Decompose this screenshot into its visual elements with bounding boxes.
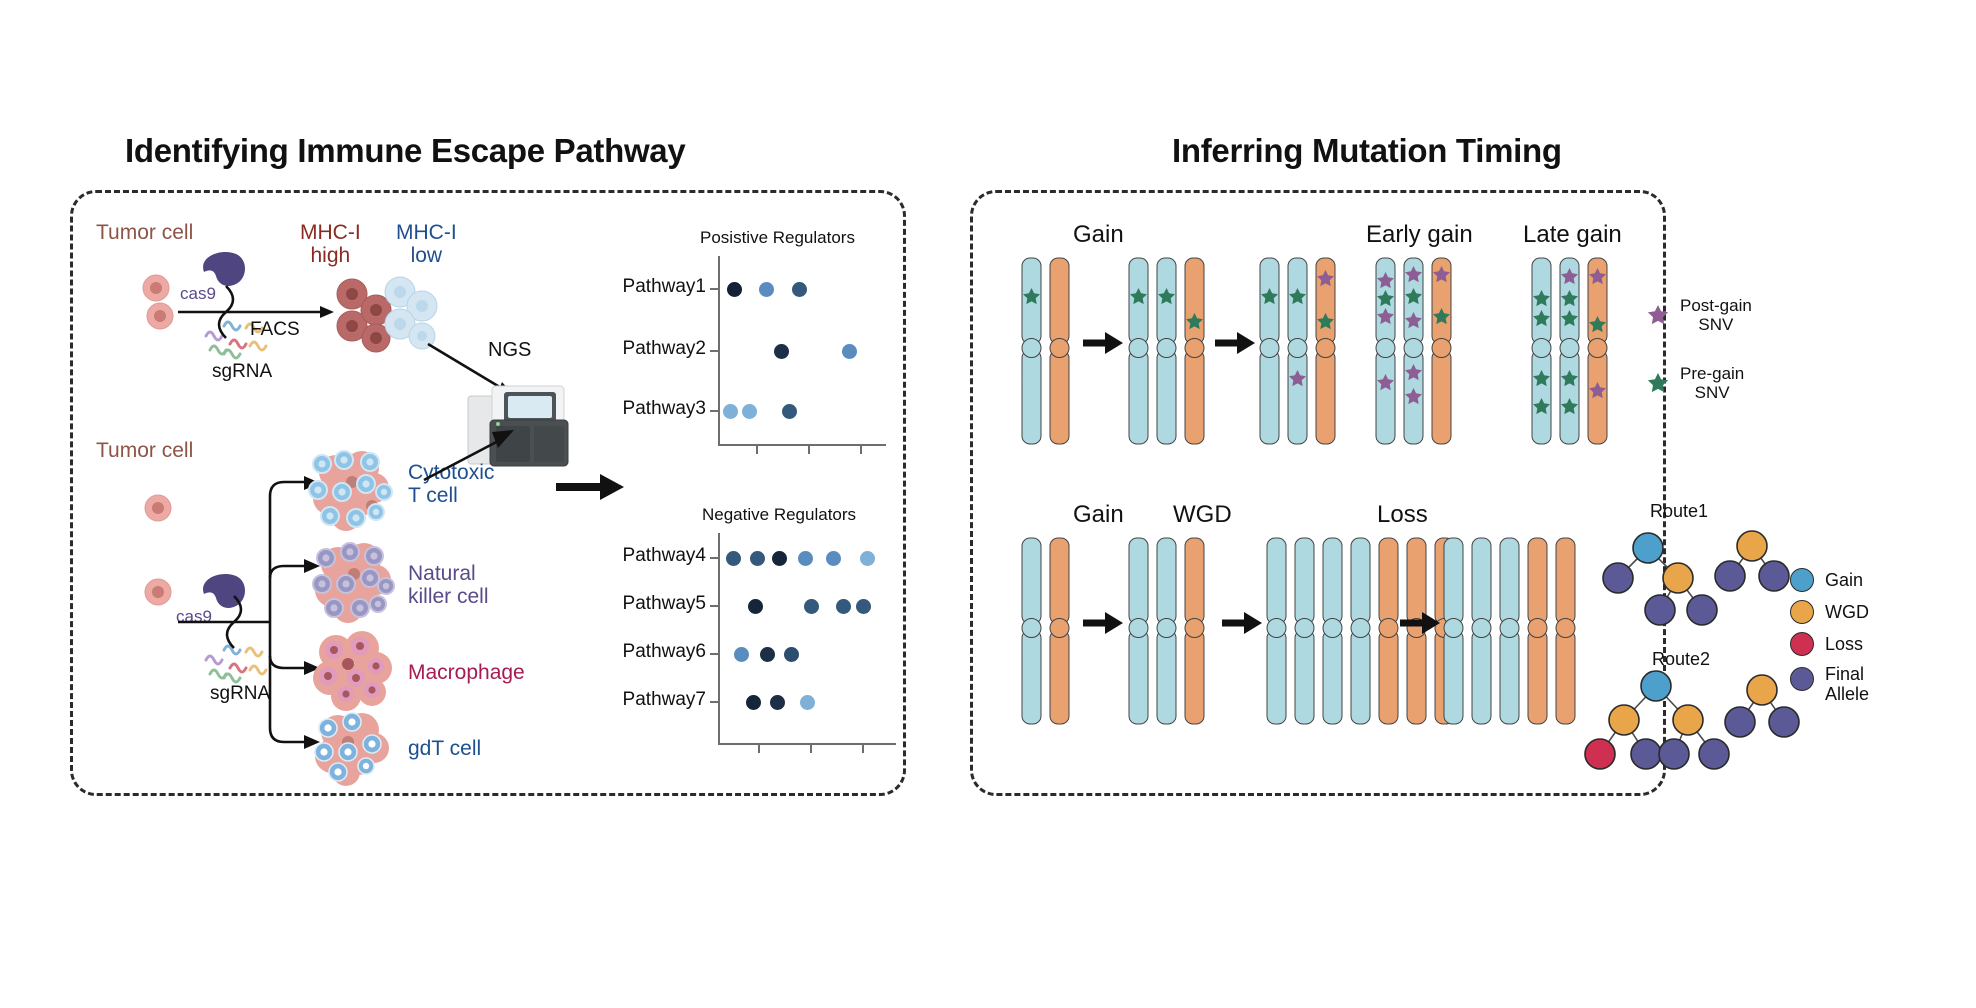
sgrna-label-top: sgRNA — [212, 362, 272, 383]
bottom-chromosome-group-1 — [1020, 538, 1080, 724]
negative-y-tick — [710, 605, 718, 607]
mhc-low-label: MHC-I low — [396, 222, 457, 267]
negative-cat-label: Pathway7 — [610, 689, 706, 711]
cytotoxic-t-cell-icon — [308, 448, 394, 530]
bottom-chromosome-group-2 — [1127, 538, 1217, 724]
final-allele-line1: Final — [1825, 664, 1864, 684]
left-panel-title: Identifying Immune Escape Pathway — [125, 132, 685, 170]
negative-x-axis — [718, 743, 896, 745]
positive-x-tick — [860, 446, 862, 454]
data-point — [856, 599, 871, 614]
data-point — [750, 551, 765, 566]
route2-tree — [1568, 672, 1798, 782]
negative-y-tick — [710, 701, 718, 703]
data-point — [826, 551, 841, 566]
pre-gain-star-icon — [1646, 371, 1670, 395]
data-point — [782, 404, 797, 419]
early-gain-label: Early gain — [1366, 222, 1473, 248]
positive-cat-label: Pathway2 — [610, 338, 706, 360]
data-point — [860, 551, 875, 566]
nk-line1: Natural — [408, 562, 476, 585]
pre-gain-line1: Pre-gain — [1680, 364, 1744, 383]
negative-cat-label: Pathway6 — [610, 641, 706, 663]
data-point — [774, 344, 789, 359]
route1-tree — [1592, 530, 1792, 640]
negative-y-tick — [710, 653, 718, 655]
positive-y-tick — [710, 410, 718, 412]
legend-wgd: WGD — [1790, 600, 1869, 624]
bottom-arrow-1 — [1083, 610, 1123, 636]
legend-final-allele-label: Final Allele — [1825, 664, 1869, 704]
gain-node-icon — [1790, 568, 1814, 592]
legend-wgd-label: WGD — [1825, 602, 1869, 623]
data-point — [800, 695, 815, 710]
mhc-low-line2: low — [411, 244, 443, 267]
macrophage-label: Macrophage — [408, 662, 525, 685]
gain-arrow-1 — [1083, 330, 1123, 356]
negative-cat-label: Pathway5 — [610, 593, 706, 615]
route2-label: Route2 — [1652, 650, 1710, 669]
natural-killer-cell-icon — [310, 540, 396, 622]
gain-label-top: Gain — [1073, 222, 1124, 248]
legend-loss: Loss — [1790, 632, 1863, 656]
negative-cat-label: Pathway4 — [610, 545, 706, 567]
chromosome-group-2 — [1127, 258, 1217, 444]
facs-label: FACS — [250, 320, 300, 341]
legend-final-allele: Final Allele — [1790, 664, 1869, 704]
data-point — [726, 551, 741, 566]
data-point — [836, 599, 851, 614]
pre-gain-snv-label: Pre-gain SNV — [1680, 364, 1744, 402]
legend-pre-gain-snv: Pre-gain SNV — [1646, 364, 1744, 402]
negative-x-tick — [758, 745, 760, 753]
positive-y-tick — [710, 288, 718, 290]
tumor-cell-label-bottom: Tumor cell — [96, 440, 193, 463]
final-allele-node-icon — [1790, 667, 1814, 691]
pre-gain-line2: SNV — [1695, 383, 1730, 402]
data-point — [742, 404, 757, 419]
loss-node-icon — [1790, 632, 1814, 656]
gain-arrow-2 — [1215, 330, 1255, 356]
negative-regulators-title: Negative Regulators — [702, 505, 856, 525]
post-gain-snv-label: Post-gain SNV — [1680, 296, 1752, 334]
macrophage-icon — [310, 630, 396, 708]
wgd-label: WGD — [1173, 502, 1232, 528]
legend-loss-label: Loss — [1825, 634, 1863, 655]
negative-y-tick — [710, 557, 718, 559]
post-gain-line1: Post-gain — [1680, 296, 1752, 315]
tumor-cell-label-top: Tumor cell — [96, 222, 193, 245]
positive-regulators-title: Posistive Regulators — [700, 228, 855, 248]
mhc-high-line2: high — [310, 244, 350, 267]
negative-x-tick — [862, 745, 864, 753]
positive-y-tick — [710, 350, 718, 352]
positive-cat-label: Pathway3 — [610, 398, 706, 420]
negative-y-axis — [718, 533, 720, 745]
mhc-cell-cluster-icon — [332, 272, 442, 352]
data-point — [760, 647, 775, 662]
arrow-to-ngs-bottom — [424, 428, 524, 488]
data-point — [746, 695, 761, 710]
positive-y-axis — [718, 256, 720, 446]
legend-gain-label: Gain — [1825, 570, 1863, 591]
nk-line2: killer cell — [408, 585, 489, 608]
data-point — [723, 404, 738, 419]
natural-killer-cell-label: Natural killer cell — [408, 563, 489, 608]
data-point — [770, 695, 785, 710]
legend-gain: Gain — [1790, 568, 1863, 592]
loss-label: Loss — [1377, 502, 1428, 528]
gdt-cell-icon — [312, 712, 394, 784]
data-point — [784, 647, 799, 662]
data-point — [759, 282, 774, 297]
mhc-low-line1: MHC-I — [396, 221, 457, 244]
mhc-high-line1: MHC-I — [300, 221, 361, 244]
chromosome-group-1 — [1020, 258, 1080, 444]
final-allele-line2: Allele — [1825, 684, 1869, 704]
route1-label: Route1 — [1650, 502, 1708, 521]
post-gain-line2: SNV — [1698, 315, 1733, 334]
right-panel-title: Inferring Mutation Timing — [1172, 132, 1562, 170]
data-point — [727, 282, 742, 297]
positive-regulators-plot: Posistive Regulators Pathway1 Pathway2 P… — [610, 228, 890, 488]
bottom-arrow-3 — [1400, 610, 1440, 636]
positive-cat-label: Pathway1 — [610, 276, 706, 298]
early-gain-chromosomes — [1374, 258, 1464, 444]
late-gain-chromosomes — [1530, 258, 1620, 444]
positive-x-tick — [808, 446, 810, 454]
negative-x-tick — [810, 745, 812, 753]
post-gain-star-icon — [1646, 303, 1670, 327]
late-gain-label: Late gain — [1523, 222, 1622, 248]
data-point — [792, 282, 807, 297]
bottom-arrow-2 — [1222, 610, 1262, 636]
data-point — [804, 599, 819, 614]
legend-post-gain-snv: Post-gain SNV — [1646, 296, 1752, 334]
chromosome-group-3 — [1258, 258, 1348, 444]
wgd-node-icon — [1790, 600, 1814, 624]
ngs-label: NGS — [488, 340, 531, 362]
negative-regulators-plot: Negative Regulators Pathway4 Pathway5 Pa… — [610, 505, 900, 785]
data-point — [734, 647, 749, 662]
positive-x-tick — [756, 446, 758, 454]
data-point — [842, 344, 857, 359]
gain-label-bottom: Gain — [1073, 502, 1124, 528]
data-point — [772, 551, 787, 566]
data-point — [798, 551, 813, 566]
data-point — [748, 599, 763, 614]
gdt-cell-label: gdT cell — [408, 738, 481, 761]
mhc-high-label: MHC-I high — [300, 222, 361, 267]
